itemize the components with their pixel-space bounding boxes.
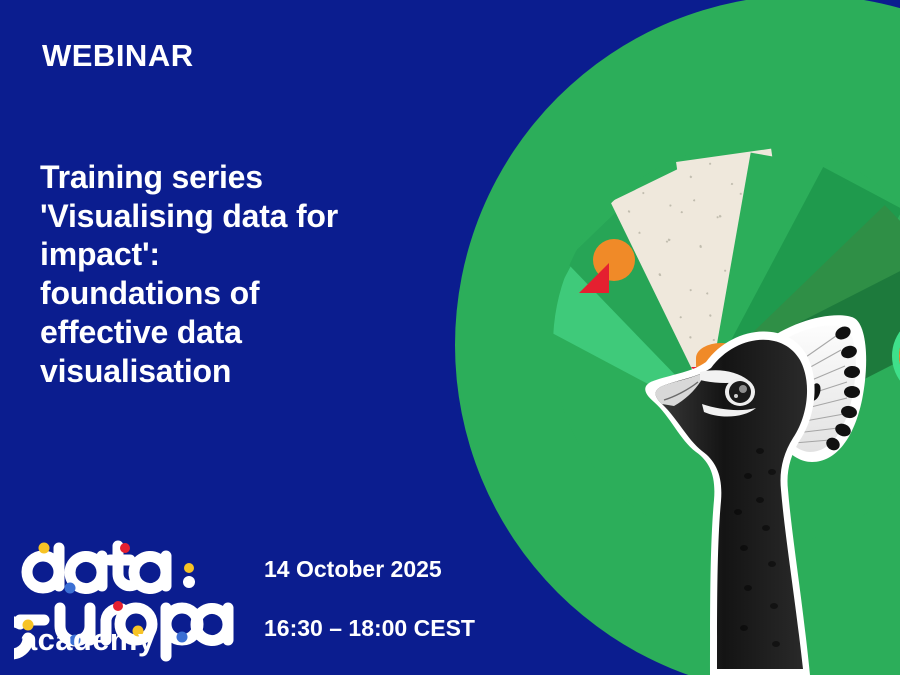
page-kicker: WEBINAR xyxy=(42,38,194,74)
webinar-poster: WEBINAR Training series 'Visualising dat… xyxy=(0,0,900,675)
title-line: visualisation xyxy=(40,352,445,391)
title-line: impact': xyxy=(40,235,445,274)
logo-period xyxy=(183,576,195,588)
event-date: 14 October 2025 xyxy=(264,556,442,583)
logo-dot-yellow xyxy=(184,563,194,573)
logo-dot-yellow xyxy=(39,543,50,554)
title-line: 'Visualising data for xyxy=(40,197,445,236)
logo-dot-red xyxy=(120,543,130,553)
peacock-head-and-neck xyxy=(645,331,814,675)
title-line: Training series xyxy=(40,158,445,197)
event-time: 16:30 – 18:00 CEST xyxy=(264,615,475,642)
logo-wordmark-data xyxy=(27,546,166,589)
title-line: foundations of xyxy=(40,274,445,313)
logo-dot-red xyxy=(113,601,123,611)
page-title: Training series 'Visualising data for im… xyxy=(40,158,445,390)
logo-dot-blue xyxy=(65,583,76,594)
peacock-illustration xyxy=(640,276,900,675)
logo-dot-blue xyxy=(177,632,188,643)
logo-academy-label: academy xyxy=(20,622,156,658)
title-line: effective data xyxy=(40,313,445,352)
